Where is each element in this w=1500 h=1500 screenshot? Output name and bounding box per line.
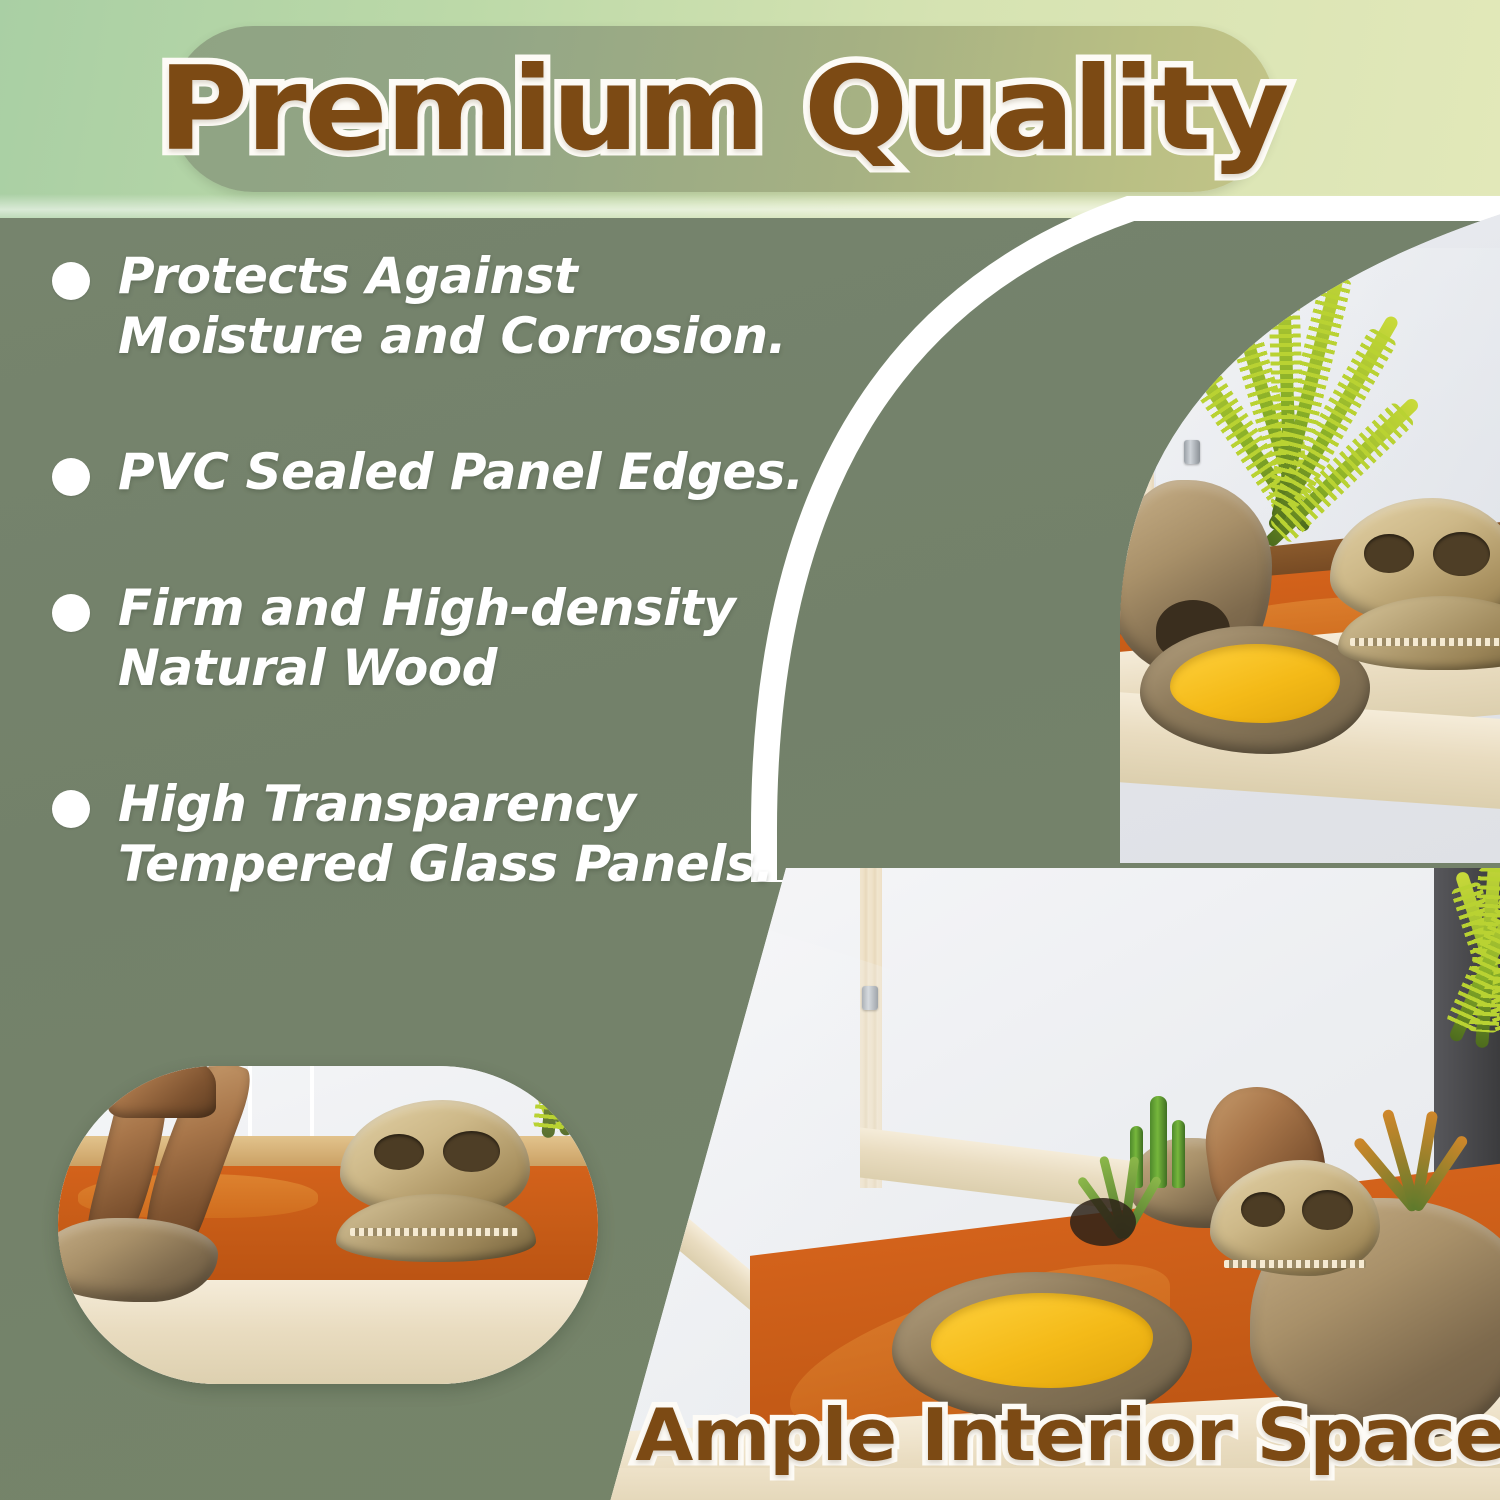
- photo-closeup-inset: [58, 1066, 598, 1384]
- food-dish: [1140, 626, 1370, 754]
- shadow-crevice: [1070, 1198, 1136, 1246]
- water-dish-interior: [931, 1293, 1153, 1387]
- rock-foreground: [58, 1218, 218, 1302]
- plant-closeup: [506, 1066, 586, 1138]
- title-banner: Premium Quality: [170, 26, 1275, 192]
- page-title: Premium Quality: [137, 26, 1308, 192]
- driftwood-arch-top: [108, 1066, 216, 1118]
- fern-top-right: [1422, 868, 1500, 1048]
- feature-text-moisture: Protects Against Moisture and Corrosion.: [118, 246, 838, 366]
- cactus-arm-right: [1172, 1120, 1185, 1188]
- dinosaur-teeth-interior: [1224, 1260, 1366, 1268]
- feature-text-pvc: PVC Sealed Panel Edges.: [118, 442, 804, 502]
- feature-list: Protects Against Moisture and Corrosion.…: [52, 246, 852, 970]
- bullet-dot-icon: [52, 262, 90, 300]
- list-item: PVC Sealed Panel Edges.: [52, 442, 852, 502]
- bullet-dot-icon: [52, 594, 90, 632]
- bullet-dot-icon: [52, 790, 90, 828]
- list-item: Protects Against Moisture and Corrosion.: [52, 246, 852, 366]
- mount-screw: [1184, 440, 1200, 464]
- skull-teeth-closeup: [350, 1228, 518, 1236]
- list-item: Firm and High-density Natural Wood: [52, 578, 852, 698]
- product-feature-image: Premium Quality: [0, 0, 1500, 1500]
- caption-ample-interior-space: Ample Interior Space: [623, 1382, 1500, 1488]
- feature-text-glass: High Transparency Tempered Glass Panels.: [118, 774, 838, 894]
- list-item: High Transparency Tempered Glass Panels.: [52, 774, 852, 894]
- feature-text-wood: Firm and High-density Natural Wood: [118, 578, 838, 698]
- closeup-scene: [58, 1066, 598, 1384]
- bullet-dot-icon: [52, 458, 90, 496]
- food-dish-interior: [1170, 644, 1340, 723]
- dinosaur-teeth: [1350, 638, 1500, 646]
